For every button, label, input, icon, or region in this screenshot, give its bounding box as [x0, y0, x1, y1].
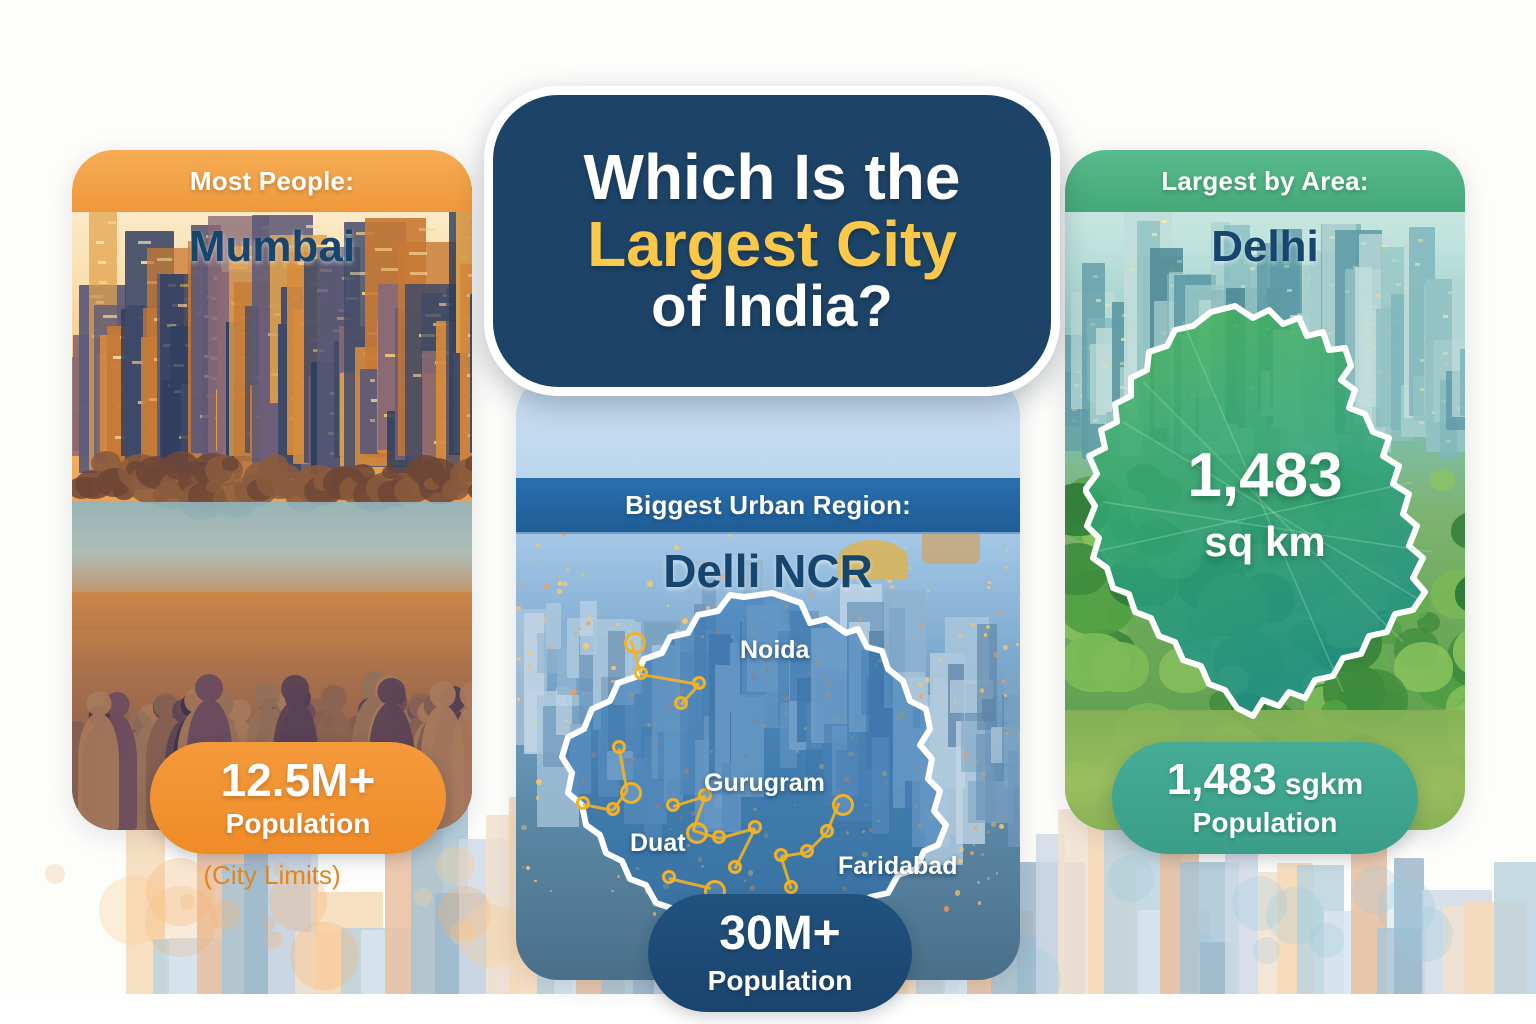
card-header-label: Biggest Urban Region:	[625, 490, 911, 521]
card-header-label: Most People:	[190, 166, 354, 197]
card-header-delhi: Largest by Area:	[1065, 150, 1465, 212]
card-header-label: Largest by Area:	[1161, 166, 1368, 197]
title-line-2: Largest City	[587, 211, 957, 278]
map-label-noida: Noida	[740, 636, 809, 665]
delhi-area-value: 1,483	[1065, 440, 1465, 511]
pill-unit: sgkm	[1285, 768, 1363, 801]
pill-value-row: 1,483 sgkm	[1167, 758, 1363, 802]
card-delhi-area[interactable]: Largest by Area: Delhi 1,483 sq km	[1065, 150, 1465, 830]
pill-caption: Population	[1193, 808, 1338, 839]
delhi-map-outline	[1083, 302, 1455, 727]
pill-delhi-area: 1,483 sgkm Population	[1112, 742, 1418, 854]
title-badge: Which Is the Largest City of India?	[484, 86, 1060, 396]
pill-mumbai-population: 12.5M+ Population	[150, 742, 446, 854]
map-node	[748, 820, 762, 834]
delhi-area-unit: sq km	[1065, 518, 1465, 566]
map-label-duat: Duat	[630, 829, 686, 858]
card-header-ncr: Biggest Urban Region:	[516, 478, 1020, 534]
pill-ncr-population: 30M+ Population	[648, 894, 912, 1012]
card-city-name-mumbai: Mumbai	[72, 222, 472, 272]
pill-caption: Population	[226, 809, 371, 840]
map-label-gurugram: Gurugram	[704, 769, 825, 798]
title-line-1: Which Is the	[584, 144, 961, 211]
footnote-city-limits: (City Limits)	[72, 860, 472, 891]
pill-value: 12.5M+	[221, 757, 376, 803]
card-city-name-delhi: Delhi	[1065, 222, 1465, 272]
card-header-mumbai: Most People:	[72, 150, 472, 212]
title-line-3: of India?	[651, 277, 893, 337]
map-label-faridabad: Faridabad	[838, 852, 957, 881]
card-mumbai[interactable]: Most People: Mumbai	[72, 150, 472, 830]
pill-value: 30M+	[719, 910, 840, 958]
pill-caption: Population	[708, 966, 853, 997]
pill-value: 1,483	[1167, 758, 1277, 802]
card-delhi-ncr[interactable]: Biggest Urban Region: Delli NCR Noida Gu…	[516, 374, 1020, 980]
